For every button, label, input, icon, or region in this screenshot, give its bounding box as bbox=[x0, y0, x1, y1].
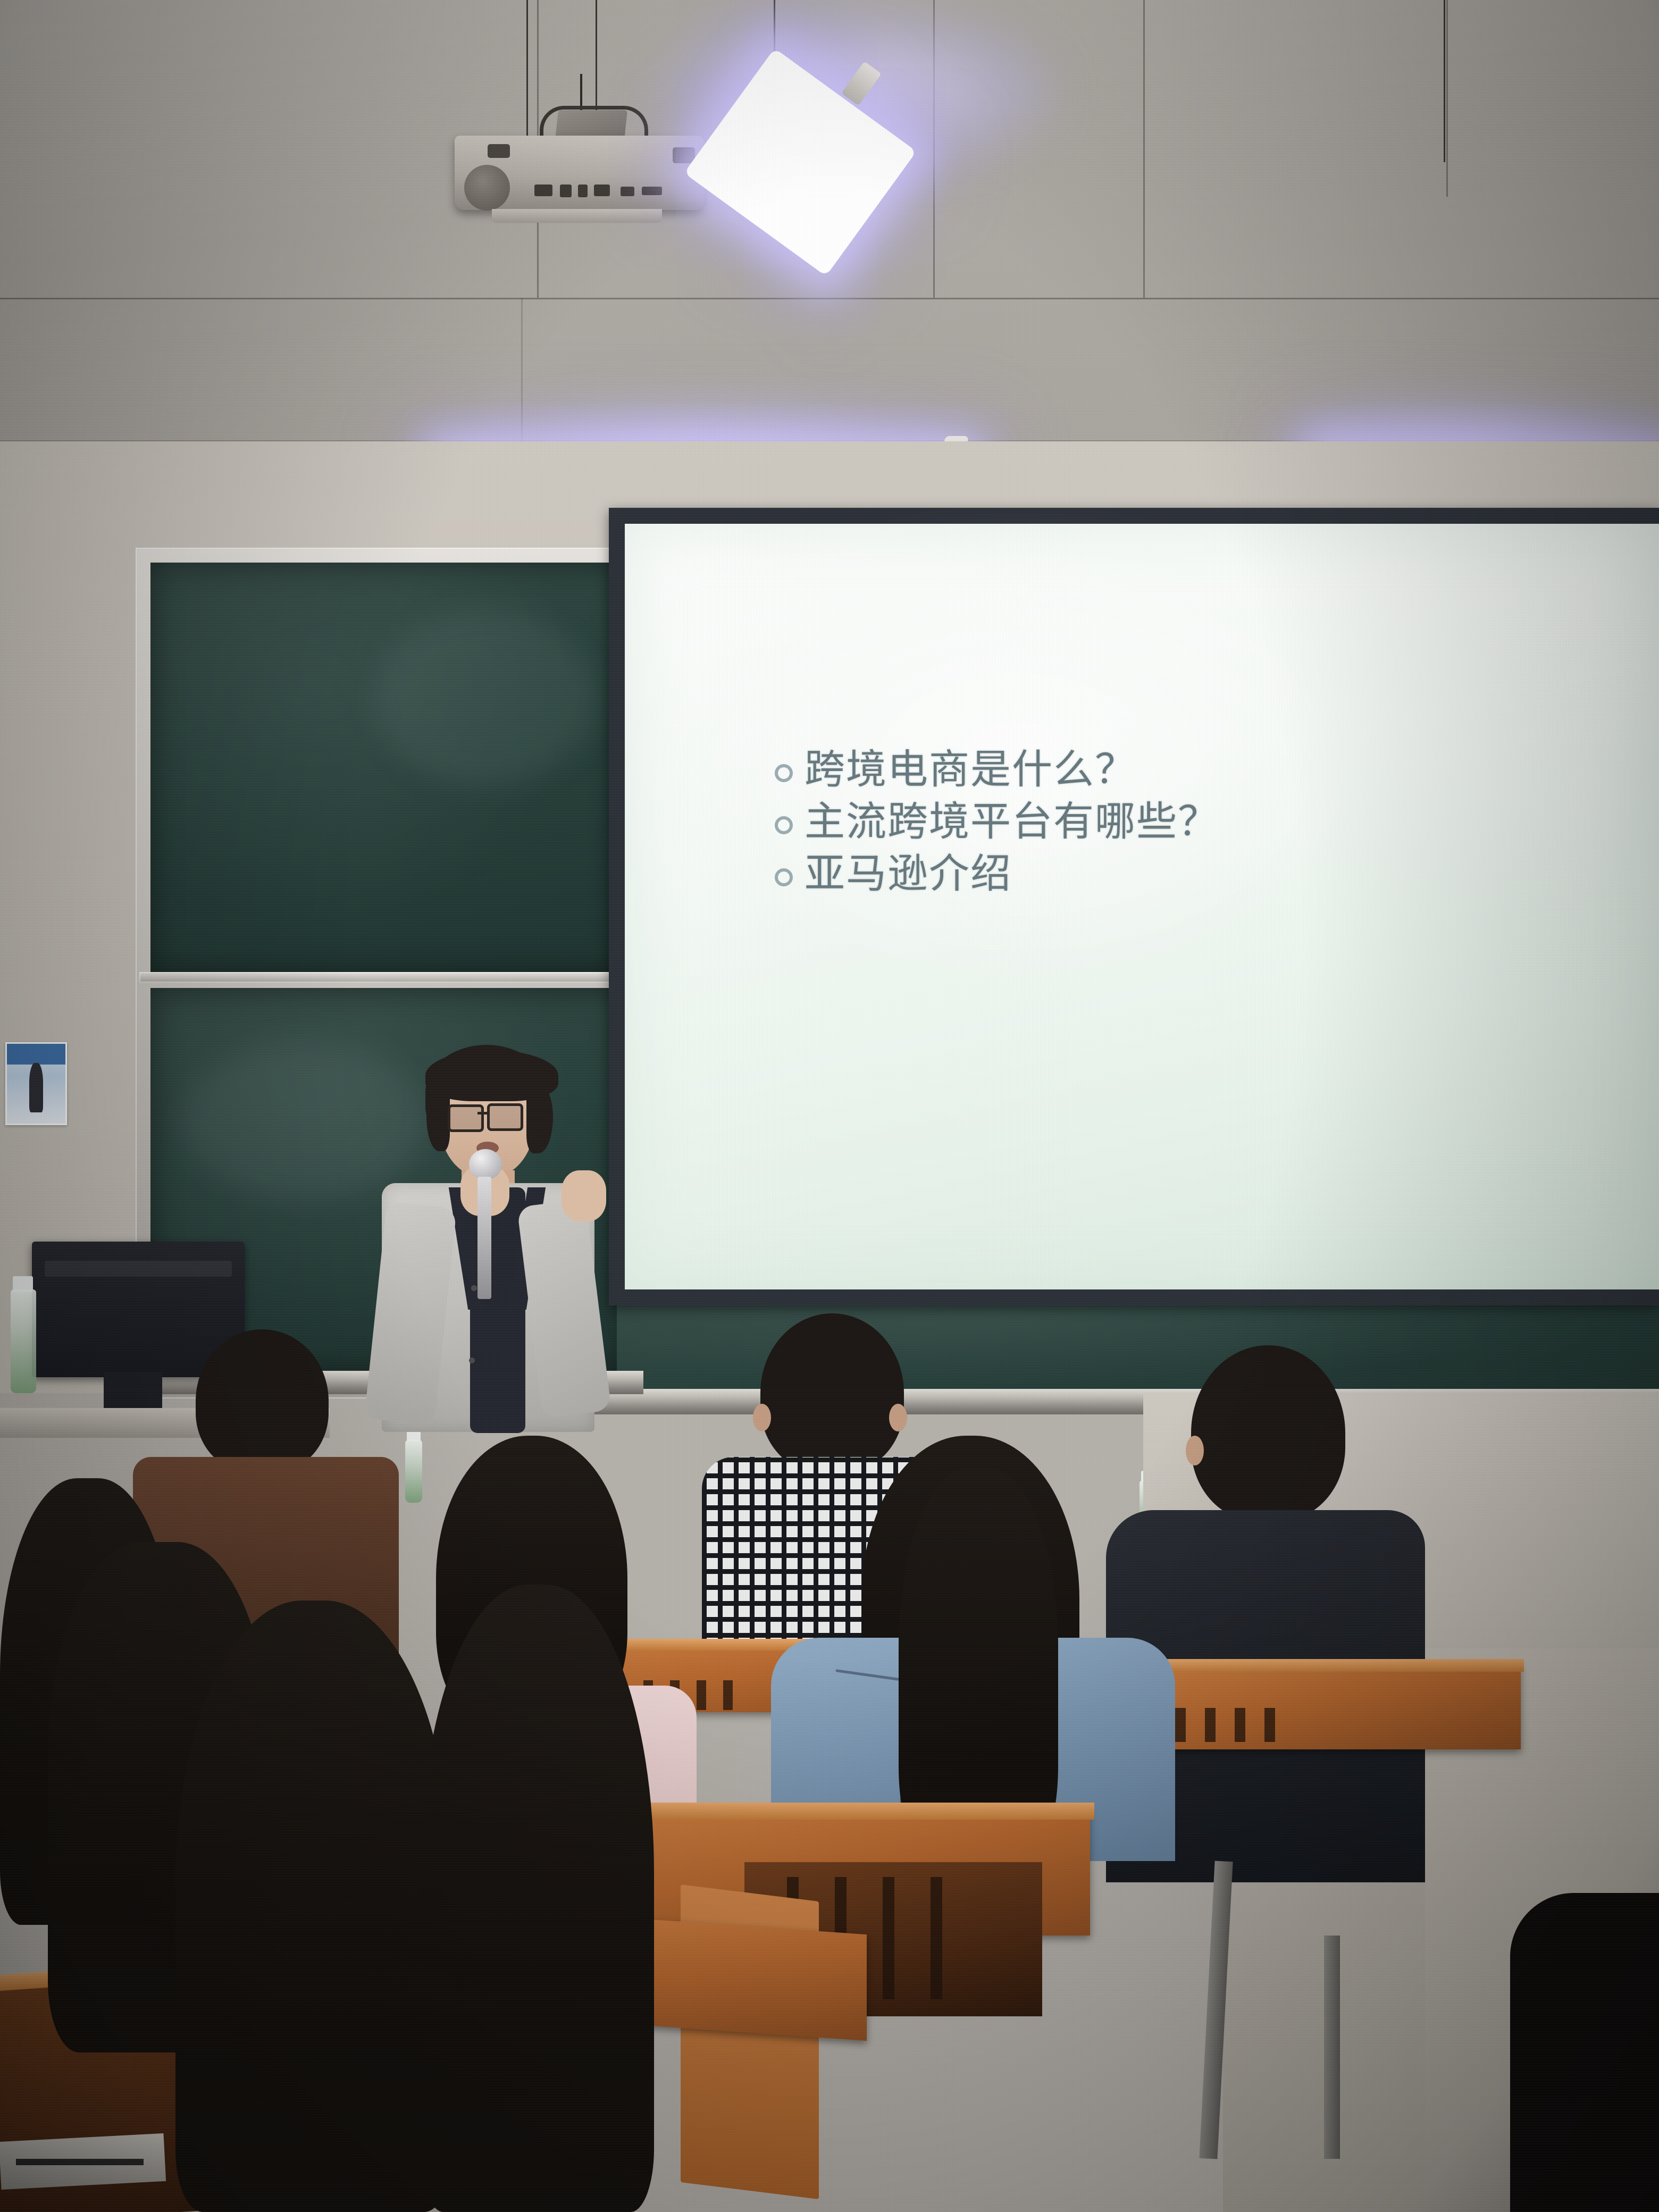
student-head-checkered bbox=[760, 1313, 904, 1473]
presenter-hand-gesturing bbox=[562, 1170, 606, 1221]
blazer-button bbox=[471, 1285, 477, 1291]
desk-slat bbox=[1175, 1708, 1186, 1742]
water-bottle-podium bbox=[11, 1289, 36, 1393]
blazer-button bbox=[469, 1358, 475, 1363]
slide-bullet-text: 亚马逊介绍 bbox=[805, 850, 1012, 897]
desk-slat bbox=[1235, 1708, 1245, 1742]
projector-port bbox=[642, 187, 662, 195]
bullet-icon bbox=[775, 764, 793, 782]
bullet-icon bbox=[775, 868, 793, 886]
water-bottle-desk bbox=[405, 1440, 422, 1503]
slide-bullet-item: 主流跨境平台有哪些？ bbox=[775, 798, 1602, 845]
light-suspension-wire bbox=[1444, 0, 1445, 162]
ear bbox=[1186, 1436, 1204, 1465]
desk-slat bbox=[723, 1680, 733, 1710]
student-foreground-center-hair bbox=[175, 1601, 452, 2212]
wall-poster bbox=[5, 1042, 67, 1125]
paper-text-line bbox=[16, 2159, 144, 2165]
projector-port bbox=[621, 187, 634, 196]
presenter-hair-side bbox=[526, 1086, 553, 1153]
slide-bullet-text: 跨境电商是什么？ bbox=[805, 746, 1136, 793]
slide-bullet-text: 主流跨境平台有哪些？ bbox=[805, 798, 1219, 845]
projector-suspension-wire bbox=[596, 0, 597, 122]
chalk-smudge bbox=[374, 610, 597, 786]
projector-port bbox=[560, 185, 572, 197]
glasses-bridge bbox=[477, 1112, 488, 1115]
student-head-brown-jacket bbox=[196, 1329, 329, 1473]
desk-slat bbox=[697, 1680, 706, 1710]
classroom-scene: 跨境电商是什么？ 主流跨境平台有哪些？ 亚马逊介绍 bbox=[0, 0, 1659, 2212]
ear bbox=[889, 1404, 907, 1431]
slide-bullet-item: 亚马逊介绍 bbox=[775, 850, 1602, 897]
chair-leg bbox=[1324, 1935, 1340, 2159]
desk-slat bbox=[883, 1877, 894, 1999]
microphone-body bbox=[477, 1177, 491, 1299]
wall-panel-line bbox=[1446, 0, 1448, 197]
glasses-lens-right bbox=[487, 1103, 523, 1131]
microphone-head bbox=[469, 1149, 502, 1180]
student-head-black-jacket bbox=[1191, 1345, 1345, 1521]
ceiling-projector bbox=[455, 120, 715, 226]
student-foreground-right-hair bbox=[420, 1585, 654, 2212]
presenter bbox=[351, 1045, 617, 1433]
projector-port bbox=[578, 185, 588, 197]
slide-bullet-item: 跨境电商是什么？ bbox=[775, 746, 1602, 793]
projector-knob bbox=[488, 144, 510, 158]
desk-slat bbox=[1205, 1708, 1216, 1742]
desk-slat bbox=[931, 1877, 942, 1999]
ceiling-seam bbox=[0, 298, 1659, 299]
projector-knob bbox=[673, 147, 695, 163]
student-foreground-edge-right bbox=[1510, 1893, 1659, 2212]
desk-top-edge bbox=[1155, 1659, 1524, 1672]
glasses-lens-left bbox=[448, 1104, 484, 1132]
projector-port bbox=[594, 185, 610, 196]
projection-screen: 跨境电商是什么？ 主流跨境平台有哪些？ 亚马逊介绍 bbox=[625, 524, 1659, 1289]
projector-base bbox=[492, 209, 662, 223]
projector-body bbox=[455, 136, 705, 210]
presenter-hair-side bbox=[426, 1087, 450, 1151]
wall-panel-line bbox=[1143, 0, 1145, 298]
chalkboard-divider bbox=[139, 972, 634, 983]
bullet-icon bbox=[775, 816, 793, 834]
projector-port bbox=[534, 185, 552, 196]
poster-figure bbox=[29, 1063, 43, 1112]
desk-top-edge bbox=[623, 1803, 1094, 1820]
ear bbox=[753, 1404, 771, 1431]
poster-header-band bbox=[7, 1044, 65, 1065]
chalkboard-upper bbox=[150, 563, 624, 972]
monitor-screen-sheen bbox=[45, 1261, 232, 1277]
desk-slat bbox=[1264, 1708, 1275, 1742]
projector-lens bbox=[464, 165, 510, 211]
slide-bullet-list: 跨境电商是什么？ 主流跨境平台有哪些？ 亚马逊介绍 bbox=[775, 746, 1602, 902]
